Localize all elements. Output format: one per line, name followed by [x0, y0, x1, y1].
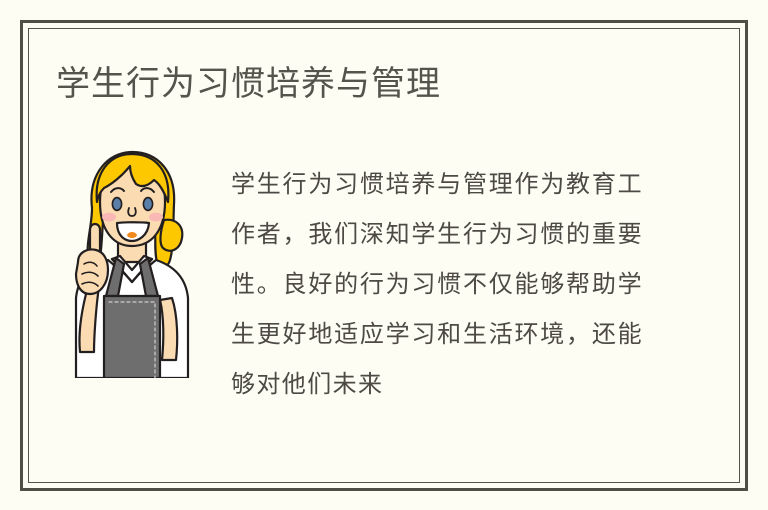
- eye-right: [143, 198, 152, 211]
- apron-body: [104, 296, 160, 378]
- teacher-illustration: [64, 146, 196, 378]
- arm-lowered: [160, 298, 177, 360]
- teacher-illustration-svg: [64, 146, 196, 378]
- hair-ponytail: [160, 220, 182, 251]
- document-page: 学生行为习惯培养与管理: [0, 0, 768, 510]
- cheek-right: [149, 213, 163, 222]
- cheek-left: [102, 213, 116, 222]
- body-paragraph: 学生行为习惯培养与管理作为教育工作者，我们深知学生行为习惯的重要性。良好的行为习…: [231, 160, 643, 410]
- eye-left: [112, 198, 121, 211]
- page-title: 学生行为习惯培养与管理: [56, 62, 441, 106]
